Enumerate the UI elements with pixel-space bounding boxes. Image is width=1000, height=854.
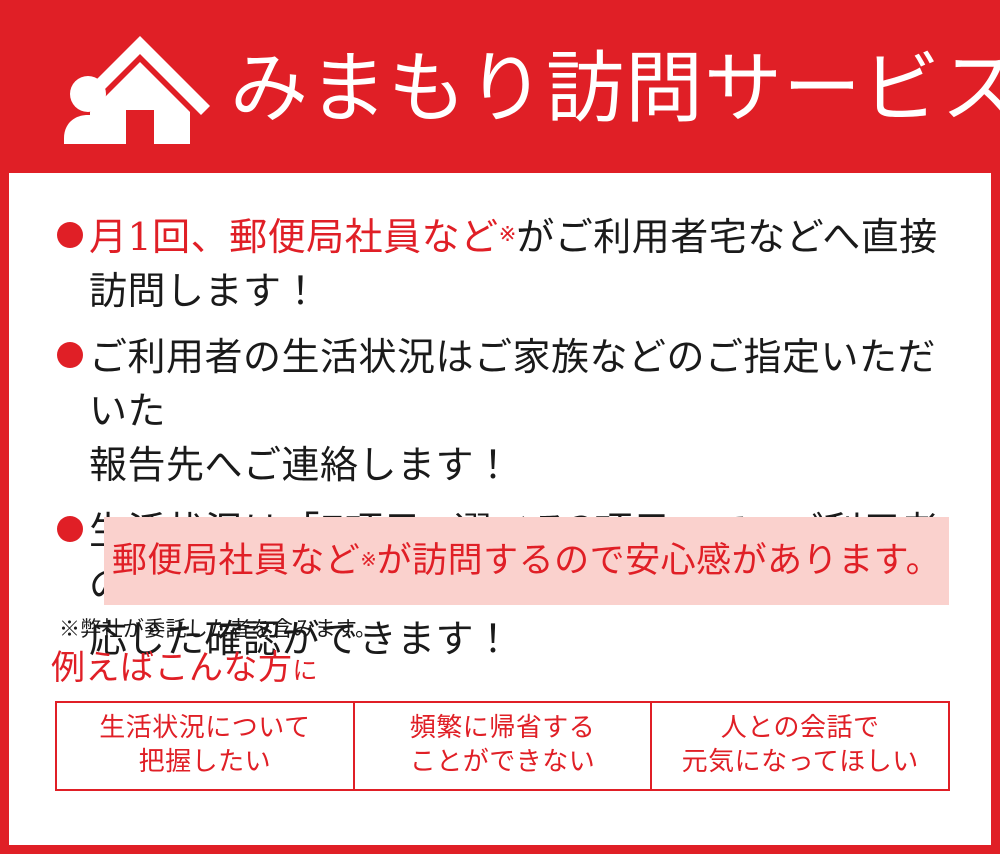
asterisk-mark-icon: ※ [499,222,517,246]
section-heading-tail: に [293,656,319,685]
callout-text: 郵便局社員など※が訪問するので安心感があります。 [112,544,941,579]
callout-text-after: が訪問するので安心感があります。 [377,541,942,581]
example-cell-3: 人との会話で 元気になってほしい [652,703,948,789]
example-cell-2-line-1: 頻繁に帰省する [410,712,596,746]
content-frame: 月1回、郵便局社員など※がご利用者宅などへ直接訪問します！ ご利用者の生活状況は… [0,173,1000,854]
example-cell-1-line-1: 生活状況について [99,712,310,746]
bullet-2-line-1: ご利用者の生活状況はご家族などのご指定いただいた [89,335,936,433]
asterisk-mark-icon: ※ [360,548,376,571]
callout-text-before: 郵便局社員など [112,541,361,581]
example-cell-1-line-2: 把握したい [139,746,272,780]
section-heading-main: 例えばこんな方 [51,648,293,688]
reassurance-callout: 郵便局社員など※が訪問するので安心感があります。 [104,517,949,605]
list-item: 月1回、郵便局社員など※がご利用者宅などへ直接訪問します！ [57,211,946,319]
service-poster: みまもり訪問サービス 月1回、郵便局社員など※がご利用者宅などへ直接訪問します！… [0,0,1000,854]
bullet-1-red-run: 月1回、郵便局社員など [89,215,499,259]
section-heading: 例えばこんな方に [51,651,318,685]
footnote: ※弊社が委託した者を含みます。 [59,613,376,643]
example-cell-1: 生活状況について 把握したい [57,703,355,789]
header-banner: みまもり訪問サービス [0,0,1000,173]
bullet-dot-icon [57,222,83,248]
bullet-text: ご利用者の生活状況はご家族などのご指定いただいた報告先へご連絡します！ [89,331,946,493]
example-cell-2: 頻繁に帰省する ことができない [355,703,653,789]
bullet-text: 月1回、郵便局社員など※がご利用者宅などへ直接訪問します！ [89,211,946,319]
list-item: ご利用者の生活状況はご家族などのご指定いただいた報告先へご連絡します！ [57,331,946,493]
example-cell-3-line-1: 人との会話で [721,712,880,746]
house-with-person-icon [58,32,216,144]
bullet-dot-icon [57,342,83,368]
bullet-2-line-2: 報告先へご連絡します！ [89,443,513,487]
content-inner: 月1回、郵便局社員など※がご利用者宅などへ直接訪問します！ ご利用者の生活状況は… [9,173,991,845]
example-cell-2-line-2: ことができない [410,746,596,780]
example-cell-3-line-2: 元気になってほしい [682,746,919,780]
example-cases-table: 生活状況について 把握したい 頻繁に帰省する ことができない 人との会話で 元気… [55,701,950,791]
page-title: みまもり訪問サービス [230,50,1000,128]
bullet-dot-icon [57,516,83,542]
